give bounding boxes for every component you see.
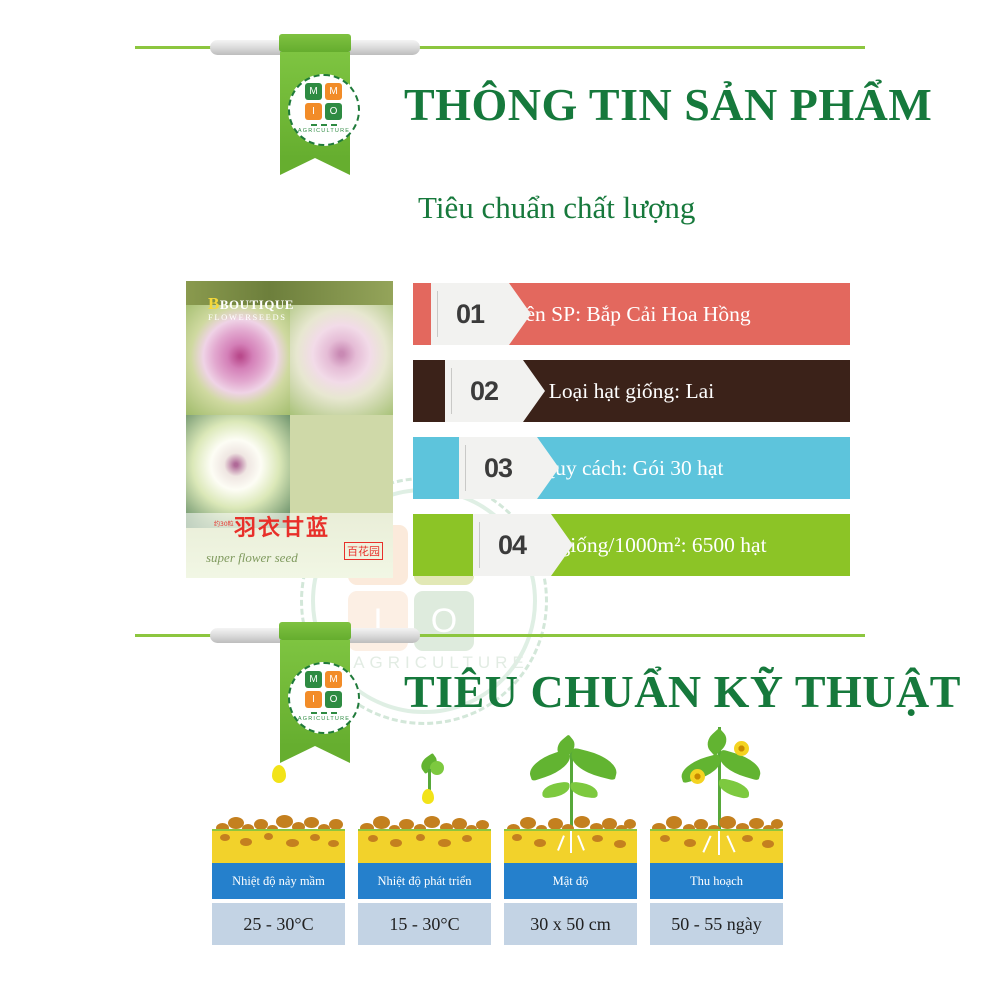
spec-card-1-value: 25 - 30°C: [212, 903, 345, 945]
packet-brand-line1: BBOUTIQUE: [208, 295, 294, 313]
logo-divider-2: [311, 712, 337, 714]
logo-letter-m2: M: [325, 83, 342, 100]
info-row-01: Tên SP: Bắp Cải Hoa Hồng 01: [413, 283, 850, 345]
packet-chinese-name: 羽衣甘蓝: [234, 510, 330, 542]
spec-card-density: Mật độ 30 x 50 cm: [504, 725, 637, 940]
info-row-04-number: 04: [473, 514, 551, 576]
logo-grid-2: M M I O: [305, 671, 343, 709]
logo-letter-o: O: [325, 103, 342, 120]
page-title: THÔNG TIN SẢN PHẨM: [404, 78, 932, 131]
soil-layer-4: [650, 829, 783, 863]
spec-card-4-label: Thu hoạch: [650, 863, 783, 899]
logo2-letter-o: O: [325, 691, 342, 708]
ribbon-top-fold: [279, 34, 351, 52]
logo-letter-i: I: [305, 103, 322, 120]
spec-card-3-label: Mật độ: [504, 863, 637, 899]
logo-badge: M M I O AGRICULTURE: [288, 74, 360, 146]
product-packet-image: BBOUTIQUE FLOWERSEEDS 约30粒 羽衣甘蓝 super fl…: [186, 281, 393, 578]
spec-card-harvest: Thu hoạch 50 - 55 ngày: [650, 725, 783, 940]
logo-caption-2: AGRICULTURE: [298, 716, 350, 722]
packet-small-text: 约30粒: [214, 519, 234, 528]
spec-card-2-label: Nhiệt độ phát triển: [358, 863, 491, 899]
info-row-02-number: 02: [445, 360, 523, 422]
logo2-letter-i: I: [305, 691, 322, 708]
soil-layer-1: [212, 829, 345, 863]
logo-badge-2: M M I O AGRICULTURE: [288, 662, 360, 734]
flower-icon-2: [690, 769, 705, 784]
ribbon-top-fold-2: [279, 622, 351, 640]
product-info-page: M M I O AGRICULTURE M M I O AGRICULTURE: [0, 0, 1000, 1000]
soil-layer-2: [358, 829, 491, 863]
bottom-divider-line: M M I O AGRICULTURE: [135, 634, 865, 637]
spec-card-growth-temp: Nhiệt độ phát triển 15 - 30°C: [358, 725, 491, 940]
packet-brand-rest: BOUTIQUE: [220, 297, 294, 312]
ribbon-body: M M I O AGRICULTURE: [280, 52, 350, 158]
packet-brand-initial: B: [208, 294, 220, 313]
packet-brand-line2: FLOWERSEEDS: [208, 313, 294, 322]
logo-caption: AGRICULTURE: [298, 128, 350, 134]
product-info-rows: Tên SP: Bắp Cải Hoa Hồng 01 Loại hạt giố…: [413, 283, 850, 591]
flower-icon-1: [734, 741, 749, 756]
info-row-03-number: 03: [459, 437, 537, 499]
packet-tagline: super flower seed: [206, 550, 298, 566]
technical-spec-cards: Nhiệt độ nảy mầm 25 - 30°C: [200, 725, 840, 940]
packet-chinese-seal: 百花园: [344, 542, 383, 560]
spec-card-1-label: Nhiệt độ nảy mầm: [212, 863, 345, 899]
spec-card-3-value: 30 x 50 cm: [504, 903, 637, 945]
seed-drop-icon: [272, 765, 286, 783]
packet-brand: BBOUTIQUE FLOWERSEEDS: [208, 295, 294, 322]
info-row-02: Loại hạt giống: Lai 02: [413, 360, 850, 422]
watermark-letter-o: O: [414, 591, 474, 651]
spec-card-2-value: 15 - 30°C: [358, 903, 491, 945]
info-row-03: Quy cách: Gói 30 hạt 03: [413, 437, 850, 499]
spec-card-germination-temp: Nhiệt độ nảy mầm 25 - 30°C: [212, 725, 345, 940]
info-row-01-number: 01: [431, 283, 509, 345]
page-subtitle: Tiêu chuẩn chất lượng: [418, 190, 695, 226]
logo-letter-m1: M: [305, 83, 322, 100]
spec-card-4-value: 50 - 55 ngày: [650, 903, 783, 945]
top-divider-line: M M I O AGRICULTURE: [135, 46, 865, 49]
logo2-letter-m1: M: [305, 671, 322, 688]
logo-grid: M M I O: [305, 83, 343, 121]
logo2-letter-m2: M: [325, 671, 342, 688]
tech-section-title: TIÊU CHUẨN KỸ THUẬT: [404, 665, 961, 718]
logo-divider: [311, 124, 337, 126]
info-row-04: Lượng giống/1000m²: 6500 hạt 04: [413, 514, 850, 576]
soil-layer-3: [504, 829, 637, 863]
packet-photo-2: [290, 302, 394, 415]
banner-ribbon-top: M M I O AGRICULTURE: [279, 34, 351, 158]
